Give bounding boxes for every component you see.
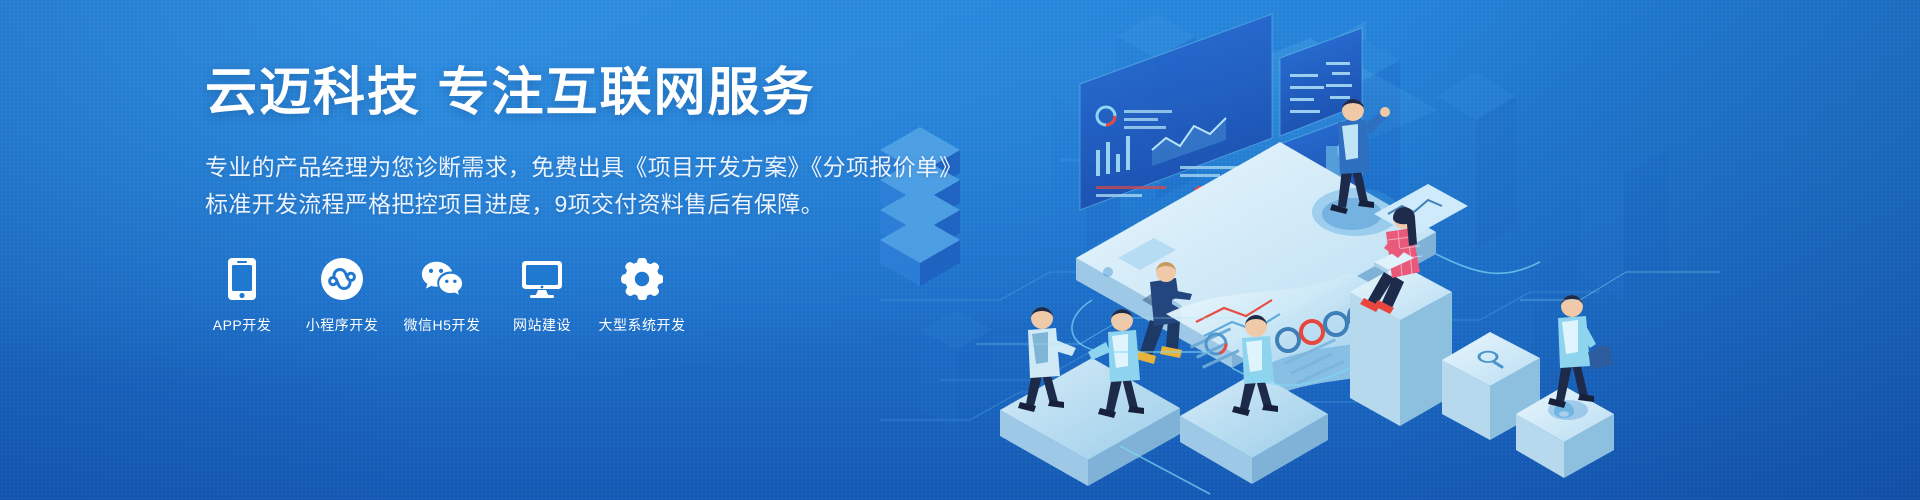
banner-copy: 云迈科技 专注互联网服务 专业的产品经理为您诊断需求，免费出具《项目开发方案》《… (205, 66, 905, 335)
service-item-mini-program[interactable]: 小程序开发 (305, 257, 379, 335)
promo-banner: 云迈科技 专注互联网服务 专业的产品经理为您诊断需求，免费出具《项目开发方案》《… (0, 0, 1920, 500)
service-item-website[interactable]: 网站建设 (505, 257, 579, 335)
service-list: APP开发 小程序开发 (205, 257, 905, 335)
subtitle-line-2: 标准开发流程严格把控项目进度，9项交付资料售后有保障。 (205, 186, 905, 223)
service-label: 网站建设 (513, 315, 571, 335)
service-item-wechat-h5[interactable]: 微信H5开发 (405, 257, 479, 335)
mini-program-icon (320, 257, 364, 301)
isometric-illustration (880, 0, 1920, 500)
service-label: 微信H5开发 (404, 315, 481, 335)
monitor-icon (520, 257, 564, 301)
service-label: 大型系统开发 (599, 315, 686, 335)
page-title: 云迈科技 专注互联网服务 (205, 66, 905, 121)
service-item-large-system[interactable]: 大型系统开发 (605, 257, 679, 335)
wechat-icon (420, 257, 464, 301)
service-label: 小程序开发 (306, 315, 379, 335)
service-label: APP开发 (213, 315, 272, 335)
gear-icon (620, 257, 664, 301)
service-item-app[interactable]: APP开发 (205, 257, 279, 335)
mobile-phone-icon (220, 257, 264, 301)
subtitle-line-1: 专业的产品经理为您诊断需求，免费出具《项目开发方案》《分项报价单》 (205, 149, 905, 186)
